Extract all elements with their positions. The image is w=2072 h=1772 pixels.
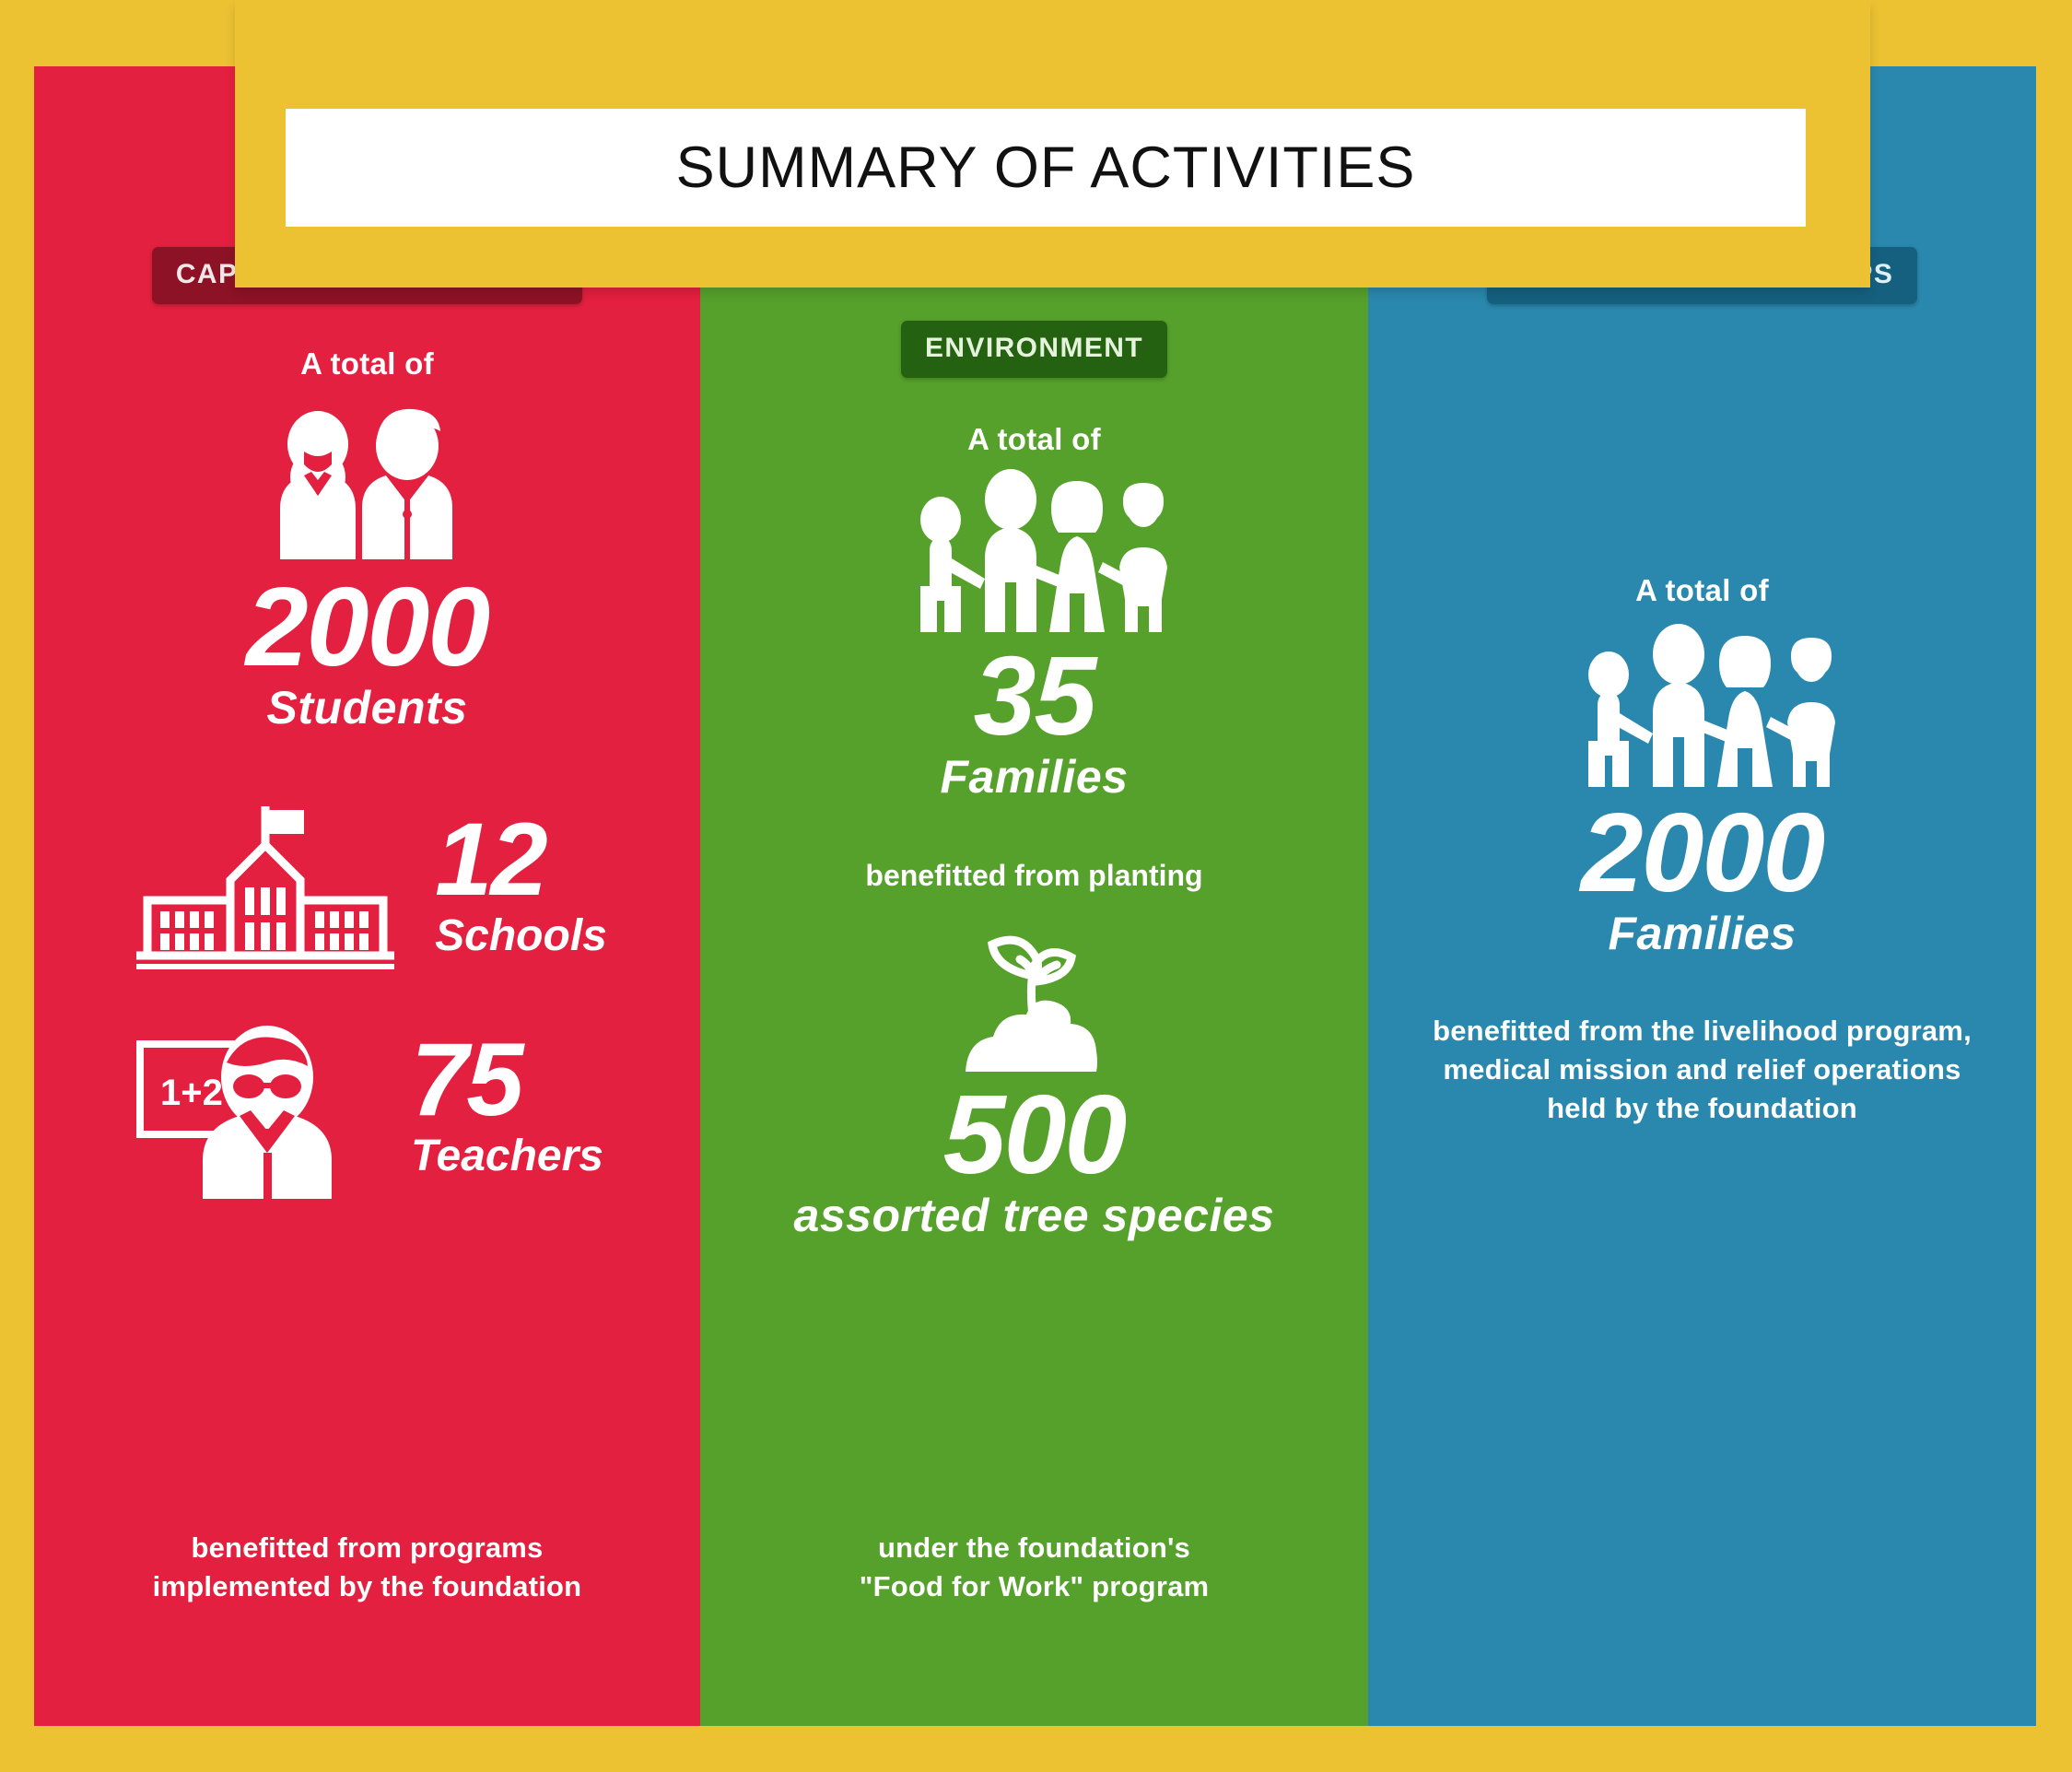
environment-hero-number: 35: [974, 643, 1095, 750]
teachers-unit: Teachers: [411, 1131, 603, 1181]
students-pair-icon: [271, 398, 464, 559]
page-title-box: SUMMARY OF ACTIVITIES: [286, 109, 1806, 227]
capacity-intro-text: A total of: [300, 346, 434, 381]
capacity-hero-unit: Students: [267, 681, 468, 734]
family-of-four-icon: [896, 466, 1173, 632]
environment-second-number: 500: [943, 1082, 1126, 1189]
environment-mid-note: benefitted from planting: [865, 859, 1202, 893]
seedling-sprout-icon: [929, 915, 1141, 1076]
schools-number: 12: [435, 812, 546, 907]
teacher-blackboard-icon: 1+2: [131, 1015, 380, 1199]
capacity-caption: benefitted from programs implemented by …: [153, 1529, 582, 1606]
stat-row-schools: 12 Schools: [34, 799, 700, 974]
stat-row-teachers: 1+2 75 Te: [34, 1015, 700, 1199]
partnerships-intro-text: A total of: [1635, 573, 1769, 608]
environment-hero-unit: Families: [940, 750, 1128, 804]
badge-environment: ENVIRONMENT: [901, 321, 1167, 378]
column-environment: ENVIRONMENT A total of: [700, 286, 1368, 1726]
partnerships-hero-number: 2000: [1581, 800, 1823, 907]
schools-unit: Schools: [435, 910, 607, 961]
family-of-four-icon: [1564, 621, 1841, 787]
environment-second-unit: assorted tree species: [794, 1189, 1275, 1242]
capacity-hero-number: 2000: [246, 574, 488, 681]
blackboard-equation: 1+2: [160, 1073, 223, 1113]
teachers-number: 75: [411, 1032, 522, 1127]
environment-intro-text: A total of: [967, 422, 1101, 457]
environment-caption: under the foundation's "Food for Work" p…: [860, 1529, 1210, 1606]
column-building-partnerships: BUILDING PARTNERSHIPS A total of: [1368, 66, 2036, 1726]
page-title: SUMMARY OF ACTIVITIES: [676, 135, 1416, 201]
column-capacity-development: CAPACITY DEVELOPMENT A total of: [34, 66, 700, 1726]
school-building-icon: [127, 799, 404, 974]
partnerships-caption: benefitted from the livelihood program, …: [1426, 1012, 1979, 1128]
partnerships-hero-unit: Families: [1608, 907, 1796, 960]
